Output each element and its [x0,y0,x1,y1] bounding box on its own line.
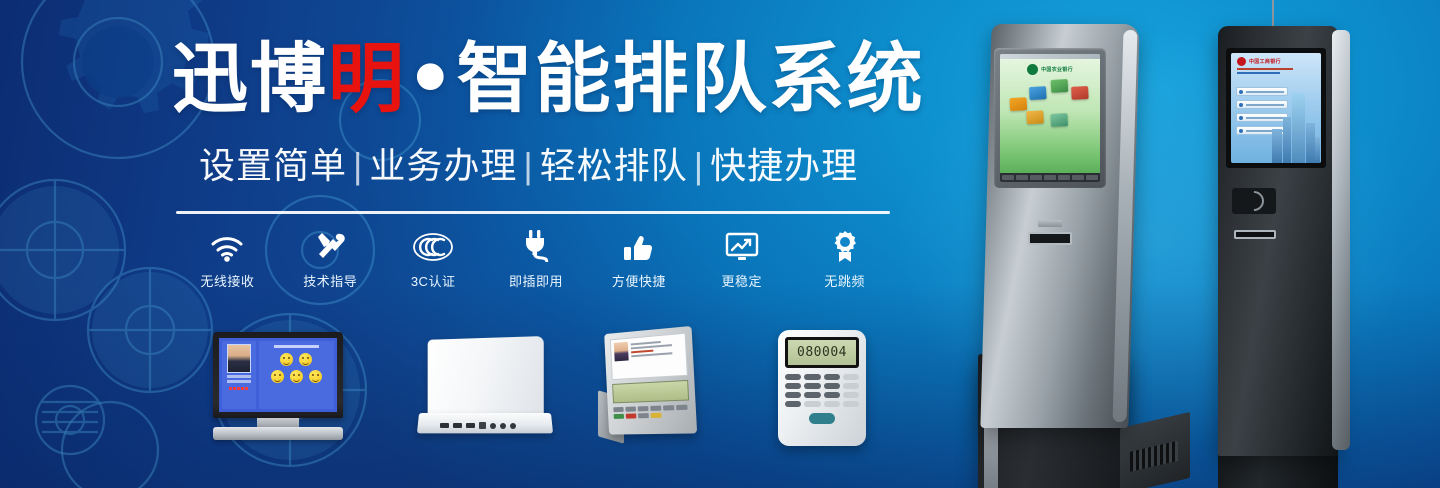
kiosk-abc-front-panel [1008,220,1092,245]
keypad-enter-key [809,413,835,424]
evaluator-name-card [610,333,688,380]
keypad-keys [785,374,859,407]
subtitle-item-4: 快捷办理 [710,145,858,186]
ticket-printer-slot [1028,232,1072,245]
skyline-graphic [1272,89,1320,163]
keypad-body: 080004 [778,330,866,446]
emoji-face [290,370,303,383]
service-tile[interactable] [1026,110,1044,124]
feature-item-nohop: 无跳频 [793,226,896,290]
feature-label: 无跳频 [824,271,865,290]
bank-name: 中国农业银行 [1041,66,1073,73]
emoji-face [280,353,293,366]
kiosk-abc-edge-trim [1113,30,1138,422]
screen-subline [1237,72,1280,74]
kiosk-icbc-edge-trim [1332,30,1350,450]
service-tile[interactable] [1010,97,1028,111]
product-queue-kiosk-icbc: 中国工商银行 [1208,18,1358,488]
bank-logo-abc: 中国农业银行 [1027,64,1073,75]
page-title: 迅博明•智能排队系统 [172,41,925,117]
feature-label: 方便快捷 [612,271,666,290]
feature-label: 3C认证 [411,271,456,290]
screen-headline-line [1237,68,1293,70]
tools-icon [314,226,346,262]
kiosk-abc-vent-box [1120,412,1190,488]
card-photo [614,342,629,362]
controller-ports [440,422,516,429]
controller-panel [428,336,544,420]
screen-top-bar [1000,54,1100,59]
evaluator-body [604,326,697,435]
subtitle: 设置简单|业务办理|轻松排队|快捷办理 [199,148,858,184]
service-tile[interactable] [1050,113,1068,127]
kiosk-abc-screen: 中国农业银行 [1000,54,1100,182]
service-tile-grid [1007,78,1094,134]
feature-label: 无线接收 [200,271,254,290]
keypad-screen: 080004 [785,337,859,368]
product-white-controller [418,338,552,442]
feature-item-convenient: 方便快捷 [587,226,690,290]
title-part-2: 智能排队系统 [457,34,925,123]
subtitle-separator: | [517,145,539,186]
power-plug-icon [521,226,551,262]
feature-item-stable: 更稳定 [690,226,793,290]
card-reader[interactable] [1232,188,1276,214]
keypad-lcd: 080004 [788,340,856,365]
rating-prompt [274,345,319,348]
staff-photo [227,344,251,373]
monitor-base [213,427,343,440]
service-tile[interactable] [1051,79,1069,93]
horizontal-divider [176,211,890,214]
card-text-lines [631,337,684,375]
staff-name-line [227,375,251,378]
emoji-row-top [280,353,312,366]
thumbs-up-icon [622,226,656,262]
bank-name: 中国工商银行 [1249,58,1281,65]
emoji-face [271,370,284,383]
feature-list: 无线接收 技术指导 3C [176,226,896,290]
subtitle-item-2: 业务办理 [369,145,517,186]
kiosk-abc-bezel: 中国农业银行 [994,48,1106,188]
service-tile[interactable] [1071,86,1089,100]
kiosk-icbc-bezel: 中国工商银行 [1226,48,1326,168]
kiosk-abc-brand-plate [1038,220,1062,227]
feature-item-ccc: 3C认证 [382,226,485,290]
product-desktop-evaluator [598,328,704,446]
wifi-icon [210,226,244,262]
product-evaluation-monitor [205,332,351,442]
subtitle-separator: | [688,145,710,186]
feature-label: 技术指导 [303,271,357,290]
feature-label: 更稳定 [721,271,762,290]
evaluator-lcd [612,380,689,404]
product-showcase: 080004 [0,310,920,460]
product-queue-kiosk-abc: 中国农业银行 [968,24,1158,488]
feature-label: 即插即用 [509,271,563,290]
subtitle-separator: | [347,145,369,186]
monitor-rating-panel [259,341,334,409]
keypad-display-value: 080004 [797,346,847,359]
title-accent-char: 明 [328,34,406,123]
service-tile[interactable] [1029,86,1047,100]
award-ribbon-icon [831,226,859,262]
bank-logo-mark [1237,57,1246,66]
emoji-face [309,370,322,383]
emoji-row-bottom [271,370,322,383]
feature-item-wireless: 无线接收 [176,226,279,290]
bank-logo-mark [1027,64,1038,75]
monitor-body [213,332,343,418]
emoji-face [299,353,312,366]
subtitle-item-1: 设置简单 [199,145,347,186]
ccc-certification-icon [412,226,454,262]
product-keypad-terminal: 080004 [778,330,866,446]
kiosk-icbc-screen: 中国工商银行 [1231,53,1321,163]
monitor-staff-panel [222,341,256,409]
monitor-screen [219,338,337,412]
rating-stars [229,387,248,390]
feature-item-support: 技术指导 [279,226,382,290]
title-part-1: 迅博 [172,34,328,123]
promo-banner: 迅博明•智能排队系统 设置简单|业务办理|轻松排队|快捷办理 无线接收 [0,0,1440,488]
monitor-chart-icon [725,226,759,262]
feature-item-plugplay: 即插即用 [485,226,588,290]
subtitle-item-3: 轻松排队 [540,145,688,186]
ticket-printer-slot [1234,230,1276,239]
staff-id-line [227,380,251,383]
bank-logo-icbc: 中国工商银行 [1231,53,1321,66]
evaluator-keys [613,405,690,419]
title-bullet: • [406,34,457,123]
screen-bottom-bar [1000,173,1100,182]
contactless-wave-icon [1240,187,1268,215]
